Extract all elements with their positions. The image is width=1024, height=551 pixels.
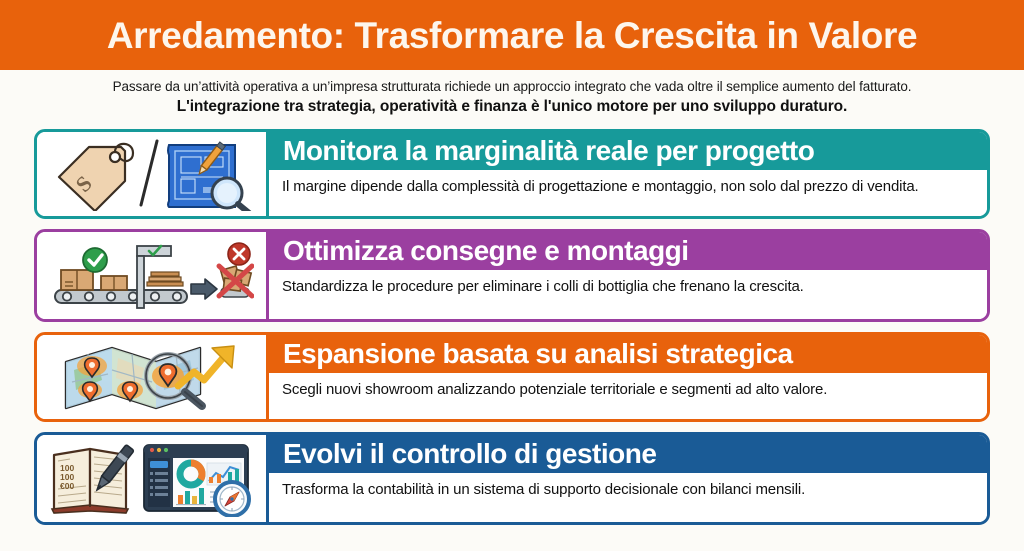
card-consegne[interactable]: Ottimizza consegne e montaggi Standardiz…: [34, 229, 990, 322]
card-body-2: Ottimizza consegne e montaggi Standardiz…: [269, 232, 987, 319]
card-title-3: Espansione basata su analisi strategica: [269, 335, 987, 373]
card-icon-panel-4: 100100€00: [37, 435, 269, 522]
conveyor-belt-check-cross-icon: [49, 238, 254, 314]
card-marginalita[interactable]: S: [34, 129, 990, 219]
card-description-1: Il margine dipende dalla complessità di …: [269, 170, 987, 216]
card-description-4: Trasforma la contabilità in un sistema d…: [269, 473, 987, 522]
intro-line-2: L'integrazione tra strategia, operativit…: [18, 97, 1006, 117]
map-pins-magnifier-arrow-icon: [52, 340, 252, 414]
header-banner: Arredamento: Trasformare la Crescita in …: [0, 0, 1024, 70]
card-icon-panel-1: S: [37, 132, 269, 216]
card-body-1: Monitora la marginalità reale per proget…: [269, 132, 987, 216]
card-description-2: Standardizza le procedure per eliminare …: [269, 270, 987, 319]
card-espansione[interactable]: Espansione basata su analisi strategica …: [34, 332, 990, 422]
page-title: Arredamento: Trasformare la Crescita in …: [107, 17, 917, 54]
card-icon-panel-3: [37, 335, 269, 419]
card-description-3: Scegli nuovi showroom analizzando potenz…: [269, 373, 987, 419]
cards-list: S: [34, 129, 990, 535]
card-controllo-gestione[interactable]: 100100€00: [34, 432, 990, 525]
ledger-book-dashboard-compass-icon: 100100€00: [48, 441, 256, 517]
card-body-3: Espansione basata su analisi strategica …: [269, 335, 987, 419]
card-title-2: Ottimizza consegne e montaggi: [269, 232, 987, 270]
svg-text:€00: €00: [60, 481, 74, 491]
card-title-4: Evolvi il controllo di gestione: [269, 435, 987, 473]
intro-line-1: Passare da un’attività operativa a un’im…: [18, 79, 1006, 96]
card-icon-panel-2: [37, 232, 269, 319]
card-title-1: Monitora la marginalità reale per proget…: [269, 132, 987, 170]
card-body-4: Evolvi il controllo di gestione Trasform…: [269, 435, 987, 522]
intro-paragraph: Passare da un’attività operativa a un’im…: [0, 70, 1024, 123]
price-tag-blueprint-magnifier-icon: S: [49, 137, 254, 211]
